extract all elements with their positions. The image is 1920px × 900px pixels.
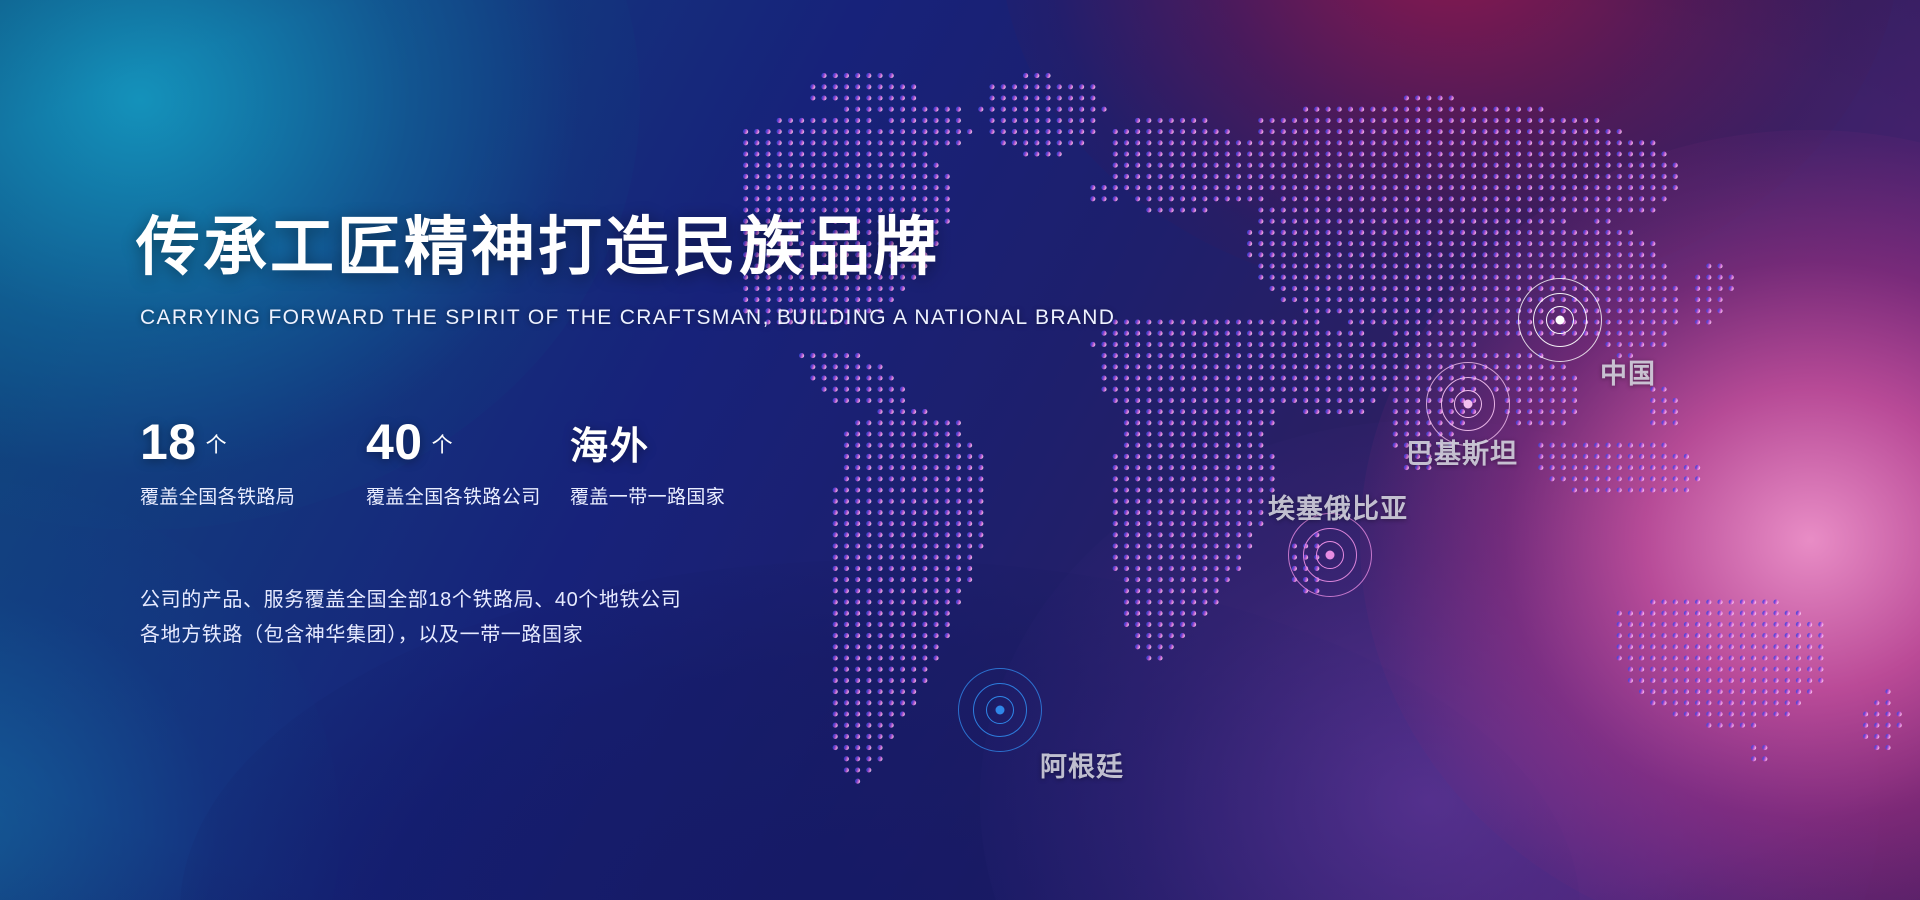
- stat-item: 海外覆盖一带一路国家: [570, 412, 730, 509]
- hero-banner: 中国巴基斯坦埃塞俄比亚阿根廷 传承工匠精神打造民族品牌 CARRYING FOR…: [0, 0, 1920, 900]
- stat-description: 覆盖一带一路国家: [570, 482, 730, 509]
- stat-description: 覆盖全国各铁路局: [140, 482, 300, 509]
- stat-value: 18: [140, 418, 197, 466]
- description-paragraph: 公司的产品、服务覆盖全国全部18个铁路局、40个地铁公司各地方铁路（包含神华集团…: [140, 583, 681, 653]
- stat-value: 40: [366, 418, 423, 466]
- stat-value: 海外: [570, 428, 650, 466]
- page-title: 传承工匠精神打造民族品牌: [136, 196, 940, 288]
- stat-item: 40个覆盖全国各铁路公司: [366, 412, 541, 509]
- stat-unit: 个: [432, 429, 453, 459]
- stat-value-row: 18个: [140, 412, 300, 466]
- stat-description: 覆盖全国各铁路公司: [366, 482, 541, 509]
- paragraph-line: 各地方铁路（包含神华集团），以及一带一路国家: [140, 618, 681, 653]
- hero-content: 传承工匠精神打造民族品牌 CARRYING FORWARD THE SPIRIT…: [136, 0, 1036, 900]
- stat-unit: 个: [206, 429, 227, 459]
- stat-value-row: 海外: [570, 412, 730, 466]
- paragraph-line: 公司的产品、服务覆盖全国全部18个铁路局、40个地铁公司: [140, 583, 681, 618]
- stat-item: 18个覆盖全国各铁路局: [140, 412, 300, 509]
- page-subtitle: CARRYING FORWARD THE SPIRIT OF THE CRAFT…: [140, 306, 1115, 330]
- stat-value-row: 40个: [366, 412, 541, 466]
